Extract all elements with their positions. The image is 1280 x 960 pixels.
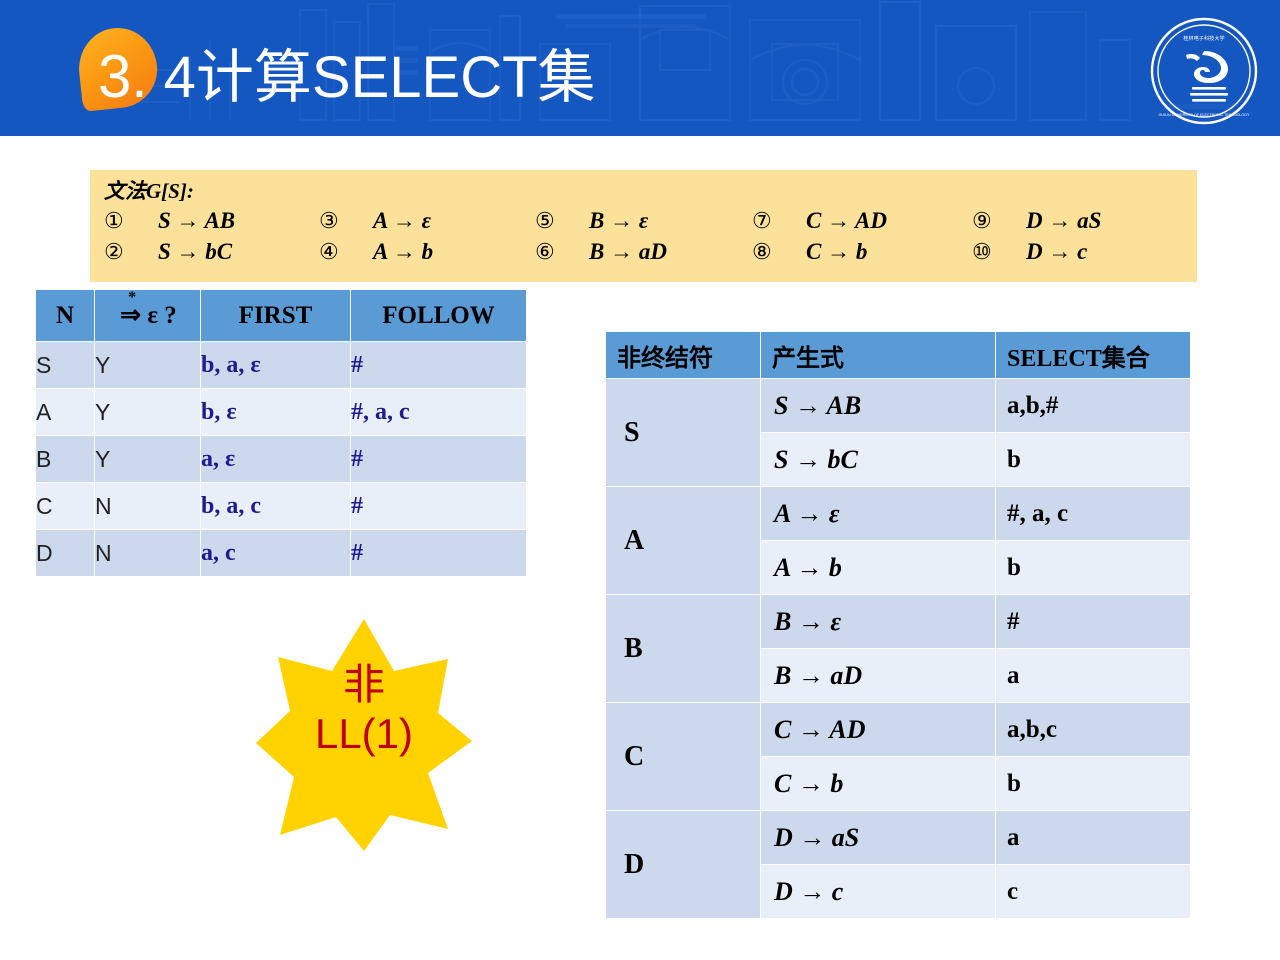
grammar-rule-text: A → ε — [373, 208, 431, 234]
cell-select-set: b — [996, 757, 1191, 811]
cell-select-set: b — [996, 541, 1191, 595]
column-header-nonterminal: 非终结符 — [606, 332, 761, 379]
cell-first-set: b, ε — [201, 389, 351, 436]
table-row: A A → ε #, a, c — [606, 487, 1191, 541]
grammar-rule-text: S → AB — [158, 208, 235, 234]
table-header-row: 非终结符 产生式 SELECT集合 — [606, 332, 1191, 379]
cell-production: B → aD — [761, 649, 996, 703]
cell-select-set: #, a, c — [996, 487, 1191, 541]
cell-production: C → AD — [761, 703, 996, 757]
cell-nonterminal: C — [606, 703, 761, 811]
column-header-nonterminal: N — [36, 290, 95, 342]
cell-production: S → AB — [761, 379, 996, 433]
grammar-rule-text: A → b — [373, 239, 433, 265]
grammar-rule: ①S → AB — [104, 205, 319, 236]
page-title-number: 3 — [98, 43, 131, 110]
grammar-rule-text: B → ε — [589, 208, 648, 234]
grammar-rule: ⑥B → aD — [535, 236, 752, 267]
cell-follow-set: # — [351, 342, 527, 389]
grammar-rule: ⑩D → c — [972, 236, 1172, 267]
cell-nonterminal: D — [36, 530, 95, 577]
grammar-rule: ⑨D → aS — [972, 205, 1172, 236]
cell-derives-epsilon: Y — [95, 342, 201, 389]
grammar-rule-text: D → c — [1026, 239, 1087, 265]
cell-production: A → ε — [761, 487, 996, 541]
cell-select-set: a — [996, 649, 1191, 703]
grammar-rule-number: ② — [104, 239, 158, 265]
cell-nonterminal: S — [36, 342, 95, 389]
column-header-production: 产生式 — [761, 332, 996, 379]
grammar-rule-text: S → bC — [158, 239, 232, 265]
grammar-rule-text: B → aD — [589, 239, 667, 265]
cell-nonterminal: C — [36, 483, 95, 530]
first-follow-table: N * ⇒ ε ? FIRST FOLLOW S Y b, a, ε # A Y… — [35, 289, 527, 577]
cell-first-set: a, c — [201, 530, 351, 577]
cell-production: A → b — [761, 541, 996, 595]
cell-derives-epsilon: N — [95, 530, 201, 577]
cell-select-set: b — [996, 433, 1191, 487]
grammar-rule-text: C → AD — [806, 208, 887, 234]
table-header-row: N * ⇒ ε ? FIRST FOLLOW — [36, 290, 527, 342]
cell-nonterminal: B — [606, 595, 761, 703]
cell-select-set: a,b,c — [996, 703, 1191, 757]
cell-first-set: b, a, ε — [201, 342, 351, 389]
university-logo-icon: 桂林电子科技大学 GUILIN UNIVERSITY OF ELECTRONIC… — [1148, 15, 1260, 127]
table-row: D N a, c # — [36, 530, 527, 577]
cell-follow-set: # — [351, 483, 527, 530]
cell-select-set: # — [996, 595, 1191, 649]
page-title-label: 4计算SELECT集 — [164, 45, 596, 110]
grammar-rule-number: ⑧ — [752, 239, 806, 265]
cell-derives-epsilon: Y — [95, 436, 201, 483]
cell-nonterminal: S — [606, 379, 761, 487]
cell-production: B → ε — [761, 595, 996, 649]
grammar-rule: ⑧C → b — [752, 236, 972, 267]
column-header-derives-epsilon: * ⇒ ε ? — [95, 290, 201, 342]
grammar-rule: ②S → bC — [104, 236, 319, 267]
svg-text:GUILIN UNIVERSITY OF ELECTRONI: GUILIN UNIVERSITY OF ELECTRONIC TECHNOLO… — [1159, 113, 1250, 117]
cell-production: D → c — [761, 865, 996, 919]
cell-first-set: a, ε — [201, 436, 351, 483]
page-title: 3. 4计算SELECT集 — [98, 38, 596, 116]
starburst-callout-shape — [252, 615, 476, 853]
cell-follow-set: # — [351, 530, 527, 577]
cell-follow-set: # — [351, 436, 527, 483]
cell-first-set: b, a, c — [201, 483, 351, 530]
grammar-label: 文法G[S]: — [104, 178, 1197, 204]
grammar-rules-grid: ①S → AB ③A → ε ⑤B → ε ⑦C → AD ⑨D → aS ②S… — [104, 205, 1197, 267]
cell-production: S → bC — [761, 433, 996, 487]
table-row: C N b, a, c # — [36, 483, 527, 530]
grammar-rule: ③A → ε — [319, 205, 535, 236]
cell-select-set: a — [996, 811, 1191, 865]
grammar-rule-number: ③ — [319, 208, 373, 234]
select-set-table: 非终结符 产生式 SELECT集合 S S → AB a,b,# S → bC … — [605, 331, 1191, 919]
column-header-select-set: SELECT集合 — [996, 332, 1191, 379]
title-banner: 3. 4计算SELECT集 桂林电子科技大学 GUILIN UNIVERSITY… — [0, 0, 1280, 136]
table-row: A Y b, ε #, a, c — [36, 389, 527, 436]
derives-epsilon-label: ⇒ ε ? — [120, 302, 177, 329]
table-row: S Y b, a, ε # — [36, 342, 527, 389]
cell-production: D → aS — [761, 811, 996, 865]
table-row: S S → AB a,b,# — [606, 379, 1191, 433]
grammar-rule: ④A → b — [319, 236, 535, 267]
grammar-rule-number: ⑤ — [535, 208, 589, 234]
grammar-panel: 文法G[S]: ①S → AB ③A → ε ⑤B → ε ⑦C → AD ⑨D… — [90, 170, 1197, 282]
cell-derives-epsilon: N — [95, 483, 201, 530]
cell-production: C → b — [761, 757, 996, 811]
grammar-rule-number: ⑨ — [972, 208, 1026, 234]
grammar-rule-text: C → b — [806, 239, 867, 265]
cell-follow-set: #, a, c — [351, 389, 527, 436]
column-header-first: FIRST — [201, 290, 351, 342]
grammar-rule: ⑦C → AD — [752, 205, 972, 236]
table-row: B Y a, ε # — [36, 436, 527, 483]
grammar-rule-number: ① — [104, 208, 158, 234]
grammar-rule-number: ⑦ — [752, 208, 806, 234]
grammar-rule: ⑤B → ε — [535, 205, 752, 236]
table-row: B B → ε # — [606, 595, 1191, 649]
cell-derives-epsilon: Y — [95, 389, 201, 436]
grammar-rule-text: D → aS — [1026, 208, 1101, 234]
cell-nonterminal: B — [36, 436, 95, 483]
kleene-star-icon: * — [128, 290, 136, 306]
grammar-rule-number: ④ — [319, 239, 373, 265]
grammar-rule-number: ⑥ — [535, 239, 589, 265]
cell-nonterminal: A — [36, 389, 95, 436]
svg-text:桂林电子科技大学: 桂林电子科技大学 — [1183, 34, 1225, 42]
page-title-separator: . — [131, 45, 147, 110]
cell-nonterminal: A — [606, 487, 761, 595]
cell-nonterminal: D — [606, 811, 761, 919]
table-row: D D → aS a — [606, 811, 1191, 865]
cell-select-set: c — [996, 865, 1191, 919]
table-row: C C → AD a,b,c — [606, 703, 1191, 757]
column-header-follow: FOLLOW — [351, 290, 527, 342]
grammar-rule-number: ⑩ — [972, 239, 1026, 265]
cell-select-set: a,b,# — [996, 379, 1191, 433]
